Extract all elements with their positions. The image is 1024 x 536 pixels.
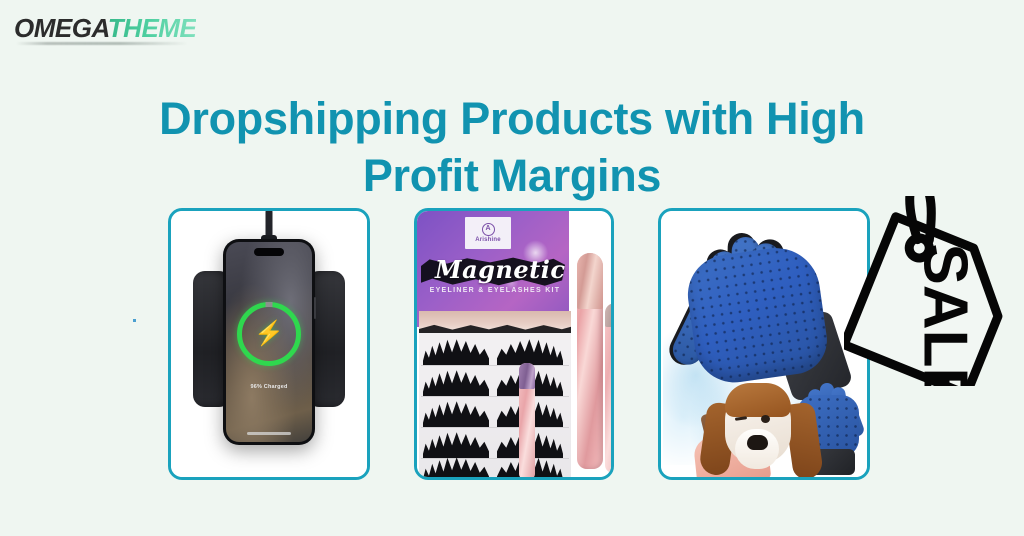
- lash-pair-row: [421, 335, 569, 365]
- page-title-line-1: Dropshipping Products with High: [0, 90, 1024, 147]
- lash-right: [497, 335, 563, 365]
- product-card-eyelashes-kit[interactable]: A Arishine Magnetic EYELINER & EYELASHES…: [414, 208, 614, 480]
- dog-eye-open: [761, 415, 770, 423]
- phone-side-button: [314, 297, 316, 319]
- lash-left: [423, 366, 489, 396]
- lashes-scene: A Arishine Magnetic EYELINER & EYELASHES…: [417, 211, 611, 477]
- logo-omega-text: OMEGA: [14, 13, 108, 43]
- dog-nose: [747, 435, 768, 450]
- product-card-grooming-glove[interactable]: [658, 208, 870, 480]
- lash-pair-row: [421, 366, 569, 396]
- page-title: Dropshipping Products with High Profit M…: [0, 90, 1024, 204]
- tag-body: [844, 217, 1018, 386]
- eyeliner-tube-small-inner: [519, 363, 535, 477]
- tag-hole: [905, 234, 933, 262]
- beagle-dog-photo: [705, 377, 815, 477]
- phone-notch: [254, 248, 284, 256]
- arishine-logo-icon: A: [482, 223, 495, 236]
- package-title-magnetic: Magnetic: [435, 255, 565, 284]
- package-brand-plate: A Arishine: [465, 217, 511, 249]
- lash-left: [423, 453, 489, 477]
- eyelash-shape: [423, 335, 489, 365]
- lash-pair-row: [421, 453, 569, 477]
- mascara-tube-cap: [577, 253, 603, 309]
- logo-underline-decoration: [16, 42, 188, 45]
- product-image-eyelashes-kit: A Arishine Magnetic EYELINER & EYELASHES…: [417, 211, 611, 477]
- smartphone-device: ⚡ 96% Charged: [223, 239, 315, 445]
- sale-tag-label: SALE: [910, 244, 979, 386]
- eyeliner-tube-right: [605, 303, 611, 473]
- eyelash-shape: [497, 335, 563, 365]
- eyeliner-tube-cap: [519, 363, 535, 389]
- glove-scene: [661, 211, 867, 477]
- lashes-package-box: A Arishine Magnetic EYELINER & EYELASHES…: [417, 211, 569, 327]
- sale-tag-icon: SALE: [844, 196, 1024, 386]
- lash-left: [423, 397, 489, 427]
- eyelash-shape: [423, 453, 489, 477]
- charge-status-label: 96% Charged: [226, 384, 312, 390]
- charger-scene: ⚡ 96% Charged: [171, 211, 367, 477]
- lash-left: [423, 335, 489, 365]
- glove-nubs: [683, 242, 832, 387]
- lash-pair-row: [421, 397, 569, 427]
- mascara-tube-large: [577, 253, 603, 469]
- dog-head-marking: [725, 383, 791, 417]
- lashes-tray-header: [419, 311, 571, 333]
- eyelash-shape: [423, 366, 489, 396]
- phone-screen: ⚡ 96% Charged: [226, 242, 312, 442]
- stray-dot-artifact: [133, 319, 136, 322]
- eyelash-shape: [423, 397, 489, 427]
- product-image-wireless-charger: ⚡ 96% Charged: [171, 211, 367, 477]
- product-image-grooming-glove: [661, 211, 867, 477]
- phone-home-indicator: [247, 432, 291, 435]
- glove-palm: [683, 242, 832, 387]
- omegatheme-logo[interactable]: OMEGATHEME: [14, 14, 194, 44]
- logo-wordmark: OMEGATHEME: [14, 14, 194, 42]
- lightning-bolt-icon: ⚡: [254, 322, 284, 346]
- product-card-wireless-charger[interactable]: ⚡ 96% Charged: [168, 208, 370, 480]
- logo-theme-text: THEME: [108, 13, 197, 43]
- package-subtitle: EYELINER & EYELASHES KIT: [425, 287, 565, 294]
- sale-badge[interactable]: SALE: [844, 196, 1024, 386]
- eyeliner-tube-right-cap: [605, 303, 611, 327]
- package-brand-name: Arishine: [475, 237, 501, 243]
- page-title-line-2: Profit Margins: [0, 147, 1024, 204]
